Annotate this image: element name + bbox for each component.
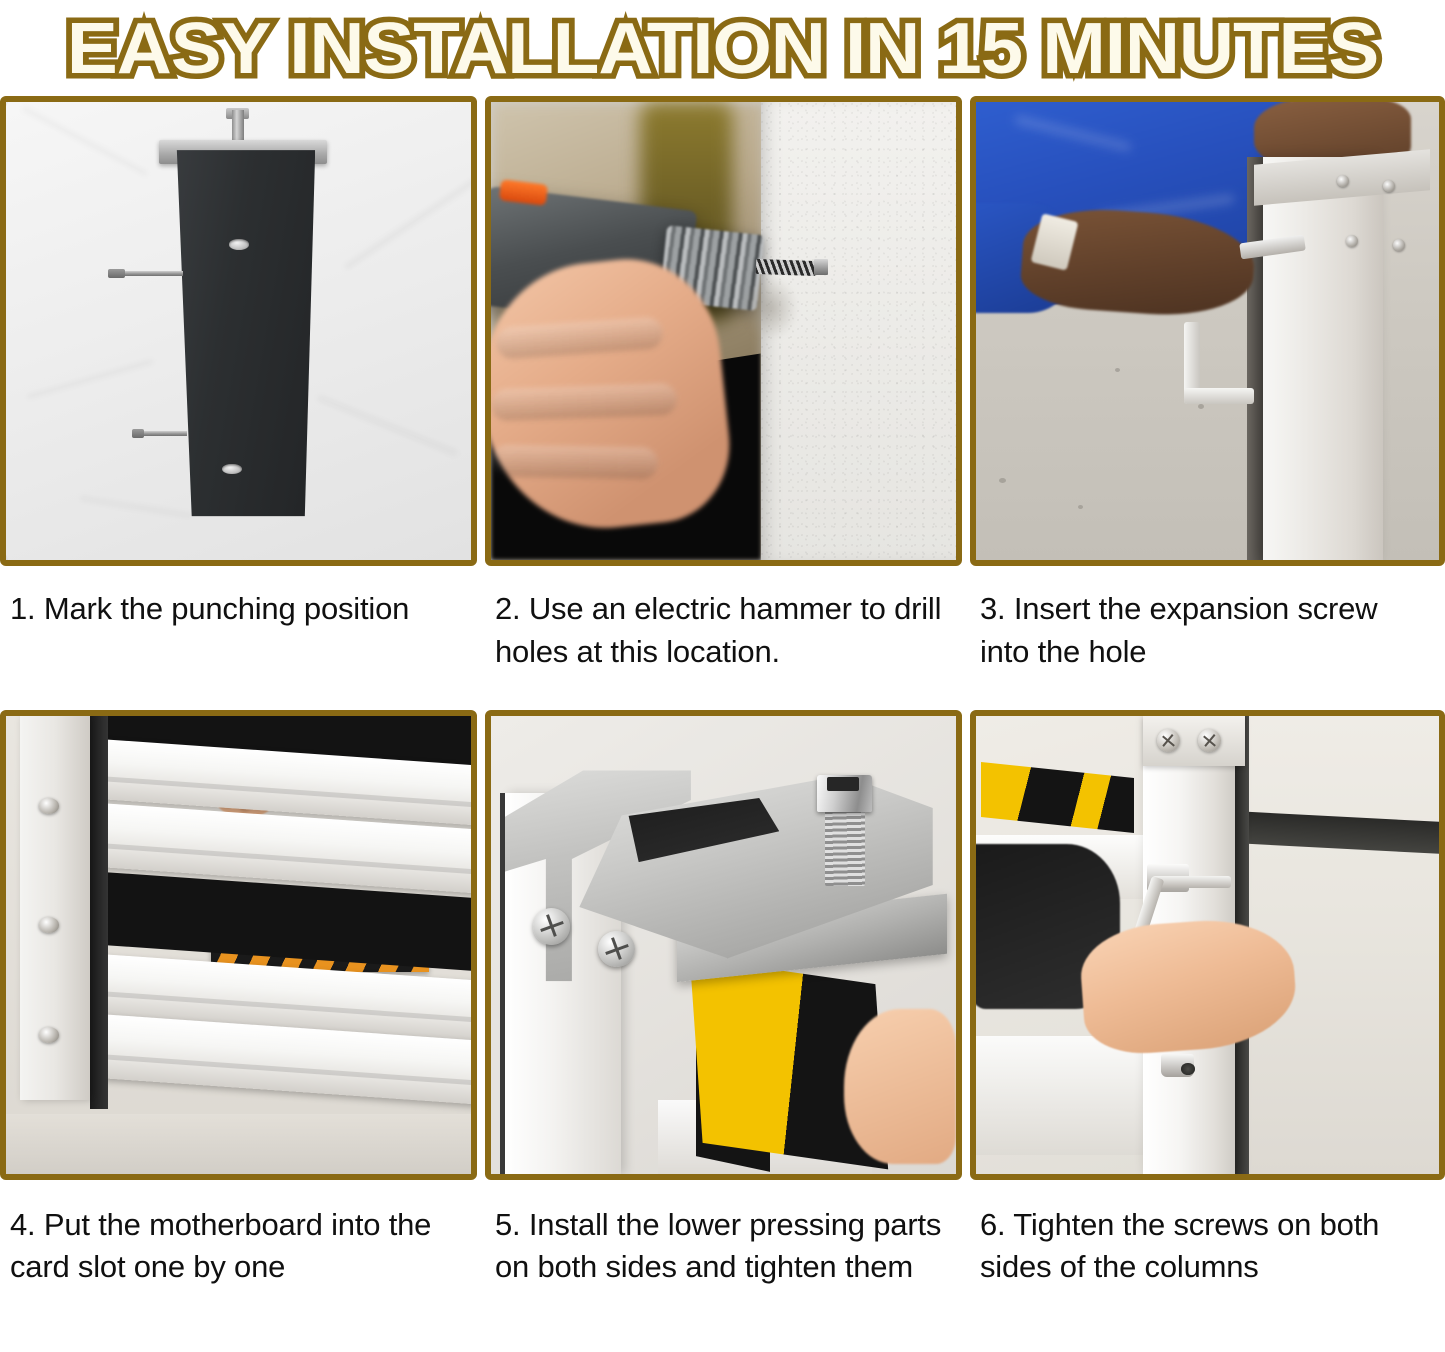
column-gap [962, 710, 970, 1180]
cross-head-screw [533, 908, 570, 945]
step-6-caption: 6. Tighten the screws on both sides of t… [970, 1180, 1445, 1290]
allen-key [1184, 322, 1253, 404]
boards-into-slot-illustration [6, 716, 471, 1174]
drill-bit-tip [814, 259, 828, 275]
installer-thumb [844, 1009, 956, 1165]
step-5-caption: 5. Install the lower pressing parts on b… [485, 1180, 962, 1290]
column-gap [962, 1180, 970, 1290]
top-stud [232, 110, 244, 142]
step-3-caption: 3. Insert the expansion screw into the h… [970, 566, 1445, 674]
tighten-screws-illustration [976, 716, 1439, 1174]
row-gap [477, 674, 485, 710]
mounting-hole-upper [229, 239, 249, 250]
column-screw [39, 798, 59, 814]
step-2-caption: 2. Use an electric hammer to drill holes… [485, 566, 962, 674]
step-2-photo-cell [485, 96, 962, 566]
step-5-caption-cell: 5. Install the lower pressing parts on b… [485, 1180, 962, 1290]
step-1-photo-cell [0, 96, 477, 566]
step-3-caption-cell: 3. Insert the expansion screw into the h… [970, 566, 1445, 674]
column-dark-edge [90, 716, 109, 1110]
mounting-hole-lower [222, 464, 242, 475]
finger-crease [491, 383, 678, 422]
expansion-screw-illustration [976, 102, 1439, 560]
step-5-photo-cell [485, 710, 962, 1180]
white-column-post [20, 716, 90, 1101]
barrier-board [976, 1036, 1152, 1155]
step-2-photo [485, 96, 962, 566]
pressing-bracket-illustration [491, 716, 956, 1174]
expansion-bolt-lower [132, 429, 188, 438]
installation-steps-grid: 1. Mark the punching position 2. Use an … [0, 96, 1445, 1289]
step-3-photo [970, 96, 1445, 566]
bracket-on-cloth-illustration [6, 102, 471, 560]
floor-speck [1115, 368, 1120, 372]
step-6-caption-cell: 6. Tighten the screws on both sides of t… [970, 1180, 1445, 1290]
page-title: EASY INSTALLATION IN 15 MINUTES [67, 13, 1378, 85]
header-banner: EASY INSTALLATION IN 15 MINUTES [0, 0, 1445, 96]
floor-speck [999, 478, 1006, 483]
column-screw [39, 1027, 59, 1043]
row-gap [962, 674, 970, 710]
row-gap [0, 674, 477, 710]
column-gap [962, 96, 970, 566]
drill-into-wall-illustration [491, 102, 956, 560]
expansion-bolt-upper [108, 269, 182, 278]
column-screw [39, 917, 59, 933]
step-6-photo [970, 710, 1445, 1180]
step-1-caption-cell: 1. Mark the punching position [0, 566, 477, 674]
column-gap [962, 566, 970, 674]
step-6-photo-cell [970, 710, 1445, 1180]
hex-bolt-thread [825, 808, 865, 886]
finger-crease [491, 444, 659, 479]
column-gap [477, 710, 485, 1180]
step-2-caption-cell: 2. Use an electric hammer to drill holes… [485, 566, 962, 674]
floor [6, 1114, 471, 1174]
step-4-photo [0, 710, 477, 1180]
drill-bit [756, 259, 817, 276]
row-gap [485, 674, 962, 710]
step-5-photo [485, 710, 962, 1180]
step-4-photo-cell [0, 710, 477, 1180]
step-3-photo-cell [970, 96, 1445, 566]
white-column [1263, 157, 1383, 560]
floor-speck [1078, 505, 1083, 509]
step-4-caption: 4. Put the motherboard into the card slo… [0, 1180, 477, 1290]
hex-socket [827, 777, 860, 791]
step-4-caption-cell: 4. Put the motherboard into the card slo… [0, 1180, 477, 1290]
step-1-photo [0, 96, 477, 566]
step-1-caption: 1. Mark the punching position [0, 566, 477, 631]
column-gap [477, 566, 485, 674]
lower-column-screw [1161, 1054, 1193, 1077]
row-gap [970, 674, 1445, 710]
drill-dust [742, 276, 798, 340]
column-screw [1393, 239, 1405, 251]
column-gap [477, 1180, 485, 1290]
column-gap [477, 96, 485, 566]
column-screw [1157, 729, 1180, 752]
